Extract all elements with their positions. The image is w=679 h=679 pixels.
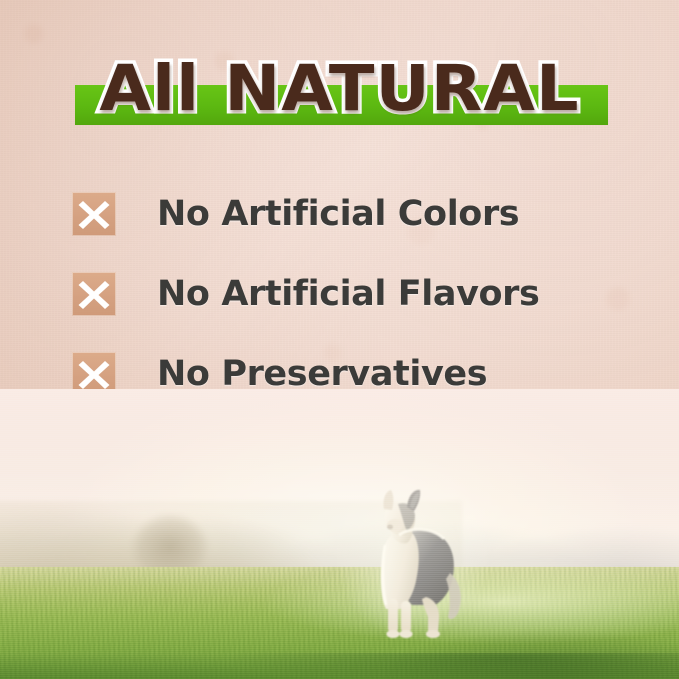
product-feature-poster: All NATURAL No Artificial Colors No Arti… [0, 0, 679, 679]
dog-photo [352, 487, 470, 639]
headline-banner: All NATURAL [0, 46, 679, 142]
x-mark-icon [72, 272, 116, 316]
foreground-grass [0, 653, 679, 679]
list-item: No Artificial Flavors [72, 254, 632, 334]
list-item: No Artificial Colors [72, 174, 632, 254]
benefit-label: No Preservatives [157, 354, 487, 394]
benefit-label: No Artificial Flavors [157, 274, 539, 314]
page-title: All NATURAL [0, 46, 679, 132]
x-mark-icon [72, 192, 116, 236]
benefit-label: No Artificial Colors [157, 194, 519, 234]
lifestyle-photo [0, 389, 679, 679]
